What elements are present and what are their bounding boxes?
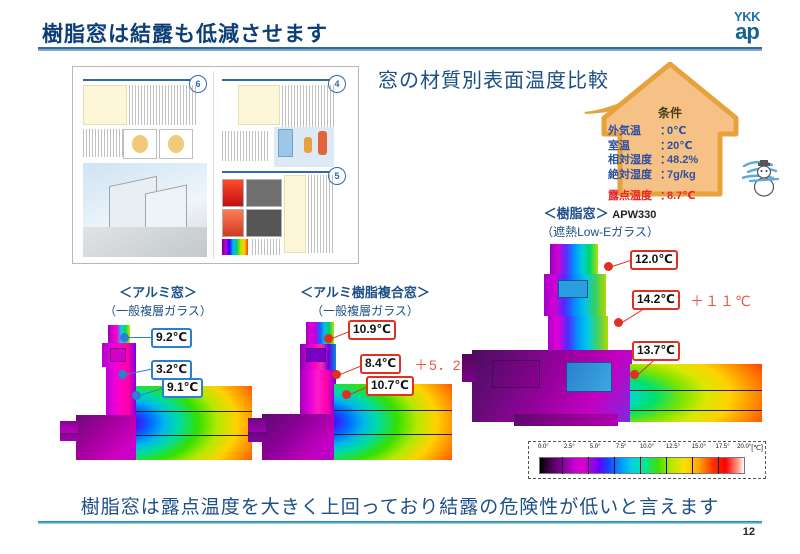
header-divider bbox=[38, 47, 762, 51]
condition-row-relative-humidity: 相対湿度 ： 48.2% bbox=[608, 153, 734, 168]
temperature-label-top: 9.2℃ bbox=[151, 328, 192, 348]
temperature-label-middle: 8.4℃ bbox=[360, 354, 401, 374]
scale-tick: 17.5° bbox=[716, 444, 730, 450]
condition-label: 室温 bbox=[608, 139, 660, 154]
temperature-label-bottom: 13.7℃ bbox=[632, 341, 680, 361]
condition-separator: ： bbox=[660, 153, 667, 168]
specimen-heading: ＜アルミ窓＞ bbox=[58, 282, 258, 301]
brochure-left-page: 6 bbox=[77, 71, 214, 259]
specimen-model: APW330 bbox=[612, 209, 656, 221]
condition-label: 絶対湿度 bbox=[608, 168, 660, 183]
page-title: 樹脂窓は結露も低減させます bbox=[42, 18, 328, 48]
condition-value: 0℃ bbox=[667, 124, 686, 139]
specimen-heading-text: ＜樹脂窓＞ bbox=[544, 206, 609, 221]
footer-caption: 樹脂窓は露点温度を大きく上回っており結露の危険性が低いと言えます bbox=[0, 492, 800, 519]
scale-tick: 7.5° bbox=[616, 444, 627, 450]
temperature-label-middle: 14.2℃ bbox=[632, 290, 680, 310]
brochure-right-page: 4 5 bbox=[218, 71, 354, 259]
condition-row-room-temp: 室温 ： 20℃ bbox=[608, 139, 734, 154]
condition-separator: ： bbox=[660, 168, 667, 183]
specimen-heading: ＜アルミ樹脂複合窓＞ bbox=[255, 282, 475, 301]
condition-label: 相対湿度 bbox=[608, 153, 660, 168]
thermal-image-composite: 10.9℃ 8.4℃ ＋5．2℃ 10.7℃ bbox=[248, 322, 468, 462]
color-scale-unit: [℃] bbox=[751, 444, 763, 452]
specimen-aluminum-resin-composite: ＜アルミ樹脂複合窓＞ （一般複層ガラス） bbox=[255, 282, 475, 319]
slide: 樹脂窓は結露も低減させます YKK ap 6 bbox=[0, 0, 800, 554]
temperature-color-scale: 0.0° 2.5° 5.0° 7.5° 10.0° 12.5° 15.0° 17… bbox=[528, 441, 766, 479]
specimen-heading: ＜樹脂窓＞ APW330 bbox=[500, 203, 700, 222]
logo-ap-text: ap bbox=[734, 21, 760, 43]
footer-divider bbox=[38, 521, 762, 524]
color-scale-gradient bbox=[539, 457, 745, 474]
specimen-subheading: （一般複層ガラス） bbox=[58, 302, 258, 319]
condition-separator: ： bbox=[660, 189, 667, 204]
temperature-label-bottom: 10.7℃ bbox=[366, 376, 414, 396]
condition-value: 48.2% bbox=[667, 153, 698, 168]
specimen-subheading: （一般複層ガラス） bbox=[255, 302, 475, 319]
condition-row-outdoor-temp: 外気温 ： 0℃ bbox=[608, 124, 734, 139]
dew-point-value: 8.7℃ bbox=[667, 189, 696, 204]
brochure-photo: 6 4 bbox=[72, 66, 359, 264]
scale-tick: 15.0° bbox=[692, 444, 706, 450]
snowman-icon bbox=[747, 160, 781, 200]
scale-tick: 0.0° bbox=[538, 444, 549, 450]
temperature-label-top: 10.9℃ bbox=[348, 320, 396, 340]
condition-row-absolute-humidity: 絶対湿度 ： 7g/kg bbox=[608, 168, 734, 183]
conditions-house: 条件 外気温 ： 0℃ 室温 ： 20℃ 相対湿度 ： 48.2% 絶対湿度 ：… bbox=[600, 62, 740, 200]
temperature-label-middle: 3.2℃ bbox=[151, 360, 192, 380]
scale-tick: 20.0° bbox=[737, 444, 751, 450]
condition-label: 外気温 bbox=[608, 124, 660, 139]
scale-tick: 2.5° bbox=[564, 444, 575, 450]
dew-point-label: 露点温度 bbox=[608, 189, 660, 204]
temperature-label-top: 12.0℃ bbox=[630, 250, 678, 270]
condition-value: 7g/kg bbox=[667, 168, 696, 183]
delta-label: ＋１１℃ bbox=[690, 291, 752, 311]
section-title: 窓の材質別表面温度比較 bbox=[378, 64, 609, 93]
condition-separator: ： bbox=[660, 139, 667, 154]
specimen-subheading: （遮熱Low-Eガラス） bbox=[500, 223, 700, 240]
condition-row-dew-point: 露点温度 ： 8.7℃ bbox=[608, 189, 734, 204]
thermal-image-aluminum: 9.2℃ 3.2℃ 9.1℃ bbox=[52, 325, 252, 460]
specimen-aluminum: ＜アルミ窓＞ （一般複層ガラス） bbox=[58, 282, 258, 319]
color-scale-ticks: 0.0° 2.5° 5.0° 7.5° 10.0° 12.5° 15.0° 17… bbox=[539, 444, 755, 455]
conditions-heading: 条件 bbox=[600, 104, 740, 121]
scale-tick: 10.0° bbox=[640, 444, 654, 450]
thermal-image-resin: 12.0℃ 14.2℃ ＋１１℃ 13.7℃ bbox=[462, 244, 762, 444]
condition-value: 20℃ bbox=[667, 139, 693, 154]
scale-tick: 12.5° bbox=[666, 444, 680, 450]
scale-tick: 5.0° bbox=[590, 444, 601, 450]
temperature-label-bottom: 9.1℃ bbox=[162, 378, 203, 398]
conditions-list: 外気温 ： 0℃ 室温 ： 20℃ 相対湿度 ： 48.2% 絶対湿度 ： 7g… bbox=[608, 124, 734, 204]
condition-separator: ： bbox=[660, 124, 667, 139]
ykk-ap-logo: YKK ap bbox=[734, 10, 760, 43]
page-number: 12 bbox=[743, 526, 755, 538]
specimen-resin: ＜樹脂窓＞ APW330 （遮熱Low-Eガラス） bbox=[500, 203, 700, 240]
